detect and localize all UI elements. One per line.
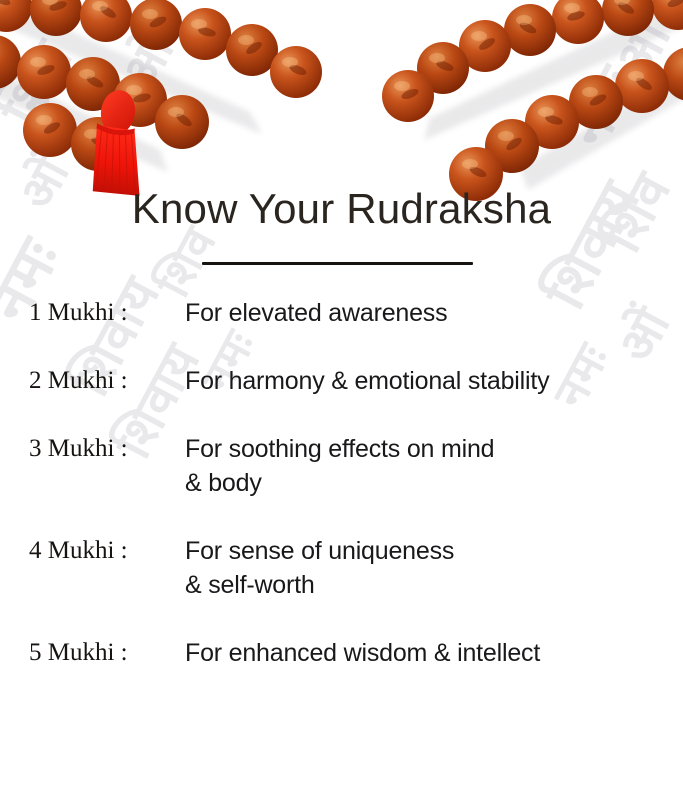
- mukhi-list: 1 Mukhi : For elevated awareness 2 Mukhi…: [0, 296, 683, 670]
- mukhi-description-line: & self-worth: [185, 568, 683, 602]
- mukhi-description: For enhanced wisdom & intellect: [185, 636, 683, 670]
- mukhi-description: For soothing effects on mind & body: [185, 432, 683, 500]
- list-item: 4 Mukhi : For sense of uniqueness & self…: [0, 534, 683, 602]
- page-title: Know Your Rudraksha: [0, 186, 683, 232]
- mukhi-description-line: & body: [185, 466, 683, 500]
- rudraksha-infographic: शिव ओं नमः शिवाय ओं शिव नमः शिवाय ओं नमः…: [0, 0, 683, 800]
- mukhi-description: For sense of uniqueness & self-worth: [185, 534, 683, 602]
- mukhi-description: For harmony & emotional stability: [185, 364, 683, 398]
- mukhi-label: 3 Mukhi :: [29, 432, 185, 466]
- list-item: 3 Mukhi : For soothing effects on mind &…: [0, 432, 683, 500]
- mukhi-description: For elevated awareness: [185, 296, 683, 330]
- mukhi-description-line: For sense of uniqueness: [185, 537, 454, 565]
- mukhi-description-line: For soothing effects on mind: [185, 435, 494, 463]
- mukhi-label: 1 Mukhi :: [29, 296, 185, 330]
- mukhi-description-line: For enhanced wisdom & intellect: [185, 639, 540, 667]
- title-divider: [202, 262, 473, 265]
- list-item: 2 Mukhi : For harmony & emotional stabil…: [0, 364, 683, 398]
- mukhi-description-line: For harmony & emotional stability: [185, 367, 549, 395]
- mukhi-label: 5 Mukhi :: [29, 636, 185, 670]
- mukhi-label: 4 Mukhi :: [29, 534, 185, 568]
- content: Know Your Rudraksha 1 Mukhi : For elevat…: [0, 0, 683, 800]
- mukhi-label: 2 Mukhi :: [29, 364, 185, 398]
- list-item: 1 Mukhi : For elevated awareness: [0, 296, 683, 330]
- list-item: 5 Mukhi : For enhanced wisdom & intellec…: [0, 636, 683, 670]
- mukhi-description-line: For elevated awareness: [185, 299, 447, 327]
